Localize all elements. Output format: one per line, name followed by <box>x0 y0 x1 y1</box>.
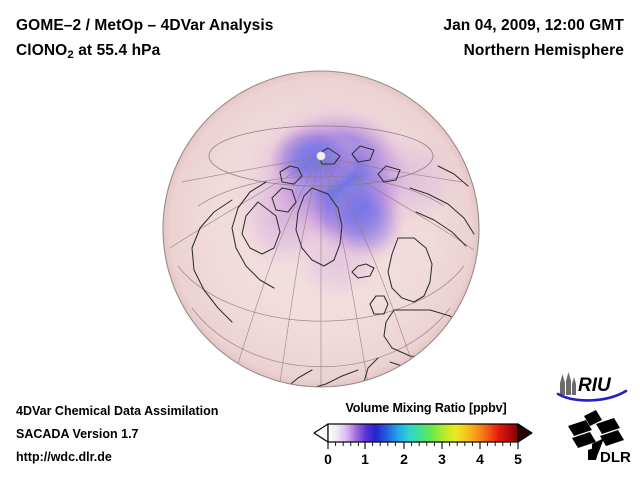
riu-tower-icon <box>560 372 576 395</box>
dlr-wordmark: DLR <box>600 449 631 466</box>
riu-wordmark: RIU <box>578 375 612 396</box>
globe-map <box>162 70 480 388</box>
riu-logo-svg: RIU <box>556 371 628 403</box>
colorbar-tick-0: 0 <box>324 451 332 467</box>
colorbar-minor-ticks <box>336 442 511 446</box>
colorbar-gradient <box>328 424 518 442</box>
colorbar-title: Volume Mixing Ratio [ppbv] <box>312 401 540 415</box>
globe-svg <box>162 70 480 388</box>
colorbar-ticks <box>328 442 518 449</box>
colorbar-tick-3: 3 <box>438 451 446 467</box>
colorbar-tick-5: 5 <box>514 451 522 467</box>
riu-logo: RIU <box>556 371 628 408</box>
footer-left-block: 4DVar Chemical Data Assimilation SACADA … <box>16 400 218 469</box>
footer-line-assimilation: 4DVar Chemical Data Assimilation <box>16 400 218 423</box>
header-right-block: Jan 04, 2009, 12:00 GMT Northern Hemisph… <box>324 13 624 63</box>
colorbar-over-arrow <box>518 424 532 442</box>
globe-contents <box>163 71 479 388</box>
colorbar-tick-4: 4 <box>476 451 484 467</box>
dlr-logo-svg: DLR <box>566 410 632 466</box>
colorbar-tick-1: 1 <box>361 451 369 467</box>
colorbar-tick-labels: 0 1 2 3 4 5 <box>324 451 522 467</box>
hemisphere-label: Northern Hemisphere <box>324 38 624 63</box>
footer-line-url[interactable]: http://wdc.dlr.de <box>16 446 218 469</box>
pressure-label: at 55.4 hPa <box>74 42 161 59</box>
footer-line-version: SACADA Version 1.7 <box>16 423 218 446</box>
colorbar: Volume Mixing Ratio [ppbv] <box>312 401 540 468</box>
dlr-logo: DLR <box>566 410 632 471</box>
colorbar-svg: 0 1 2 3 4 5 <box>312 420 540 468</box>
colorbar-under-arrow <box>314 424 328 442</box>
species-label: ClONO <box>16 42 67 59</box>
north-pole-marker <box>317 152 325 160</box>
colorbar-tick-2: 2 <box>400 451 408 467</box>
date-label: Jan 04, 2009, 12:00 GMT <box>324 13 624 38</box>
